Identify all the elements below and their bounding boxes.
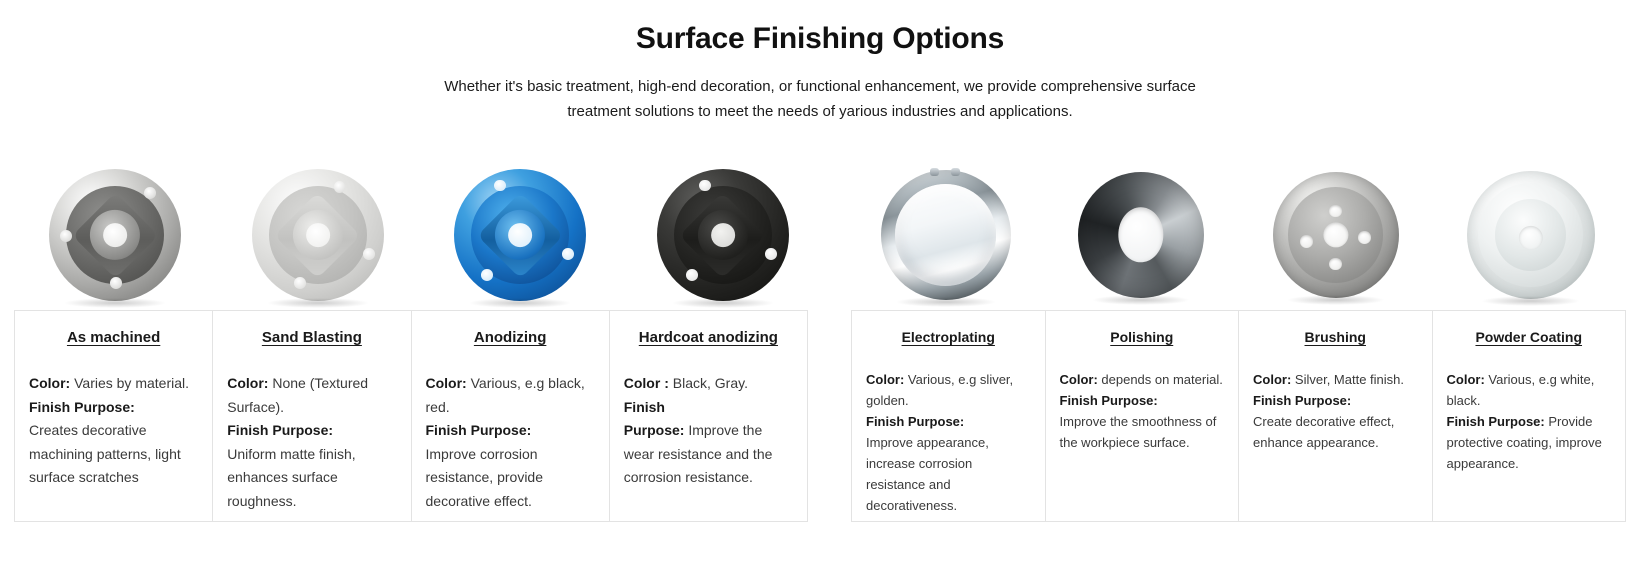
part-shadow — [266, 298, 369, 308]
flange-hole — [1329, 258, 1342, 271]
machined-housing-graphic — [49, 169, 181, 301]
part-shadow — [671, 298, 774, 308]
card-title: Hardcoat anodizing — [624, 329, 793, 346]
card-title: Powder Coating — [1447, 329, 1612, 345]
part-shadow — [1286, 295, 1384, 305]
finish-purpose-label: Finish Purpose: — [866, 414, 964, 429]
color-label: Color: — [1060, 372, 1098, 387]
color-value: Black, Gray. — [673, 375, 748, 391]
part-lug — [294, 277, 306, 289]
part-shadow — [1481, 296, 1581, 306]
finish-purpose-value: Create decorative effect, enhance appear… — [1253, 414, 1394, 450]
ring-tab — [930, 168, 939, 176]
part-shadow — [1091, 295, 1189, 305]
anodized-part-image — [419, 162, 622, 308]
ring-inner-face — [895, 184, 996, 285]
finish-purpose-value: Improve corrosion resistance, provide de… — [426, 446, 544, 509]
part-bore — [508, 223, 532, 247]
part-lug — [334, 181, 346, 193]
ring-tab — [951, 168, 960, 176]
finishing-table-right: Electroplating Color: Various, e.g slive… — [851, 310, 1626, 522]
card-title: Sand Blasting — [227, 329, 396, 346]
part-lug — [110, 277, 122, 289]
part-bore — [103, 223, 127, 247]
card-title: Brushing — [1253, 329, 1418, 345]
part-lug — [481, 269, 493, 281]
finish-card-polishing[interactable]: Polishing Color: depends on material. Fi… — [1046, 311, 1240, 521]
finish-purpose-label: Finish Purpose: — [1060, 393, 1158, 408]
as-machined-part-image — [14, 162, 217, 308]
part-lug — [765, 248, 777, 260]
color-label: Color: — [29, 375, 70, 391]
sand-blasted-part-image — [217, 162, 420, 308]
flange-hole — [1358, 231, 1371, 244]
finish-purpose-value: Improve appearance, increase corrosion r… — [866, 435, 989, 513]
card-body: Color: None (Textured Surface). Finish P… — [227, 372, 396, 513]
color-value: Varies by material. — [74, 375, 189, 391]
finish-purpose-value: Improve the smoothness of the workpiece … — [1060, 414, 1217, 450]
powder-coated-cone-graphic — [1467, 171, 1595, 299]
card-title: Polishing — [1060, 329, 1225, 345]
part-lug — [60, 230, 72, 242]
finish-purpose-label: Finish Purpose: — [426, 422, 532, 438]
finish-label: Finish — [624, 399, 665, 415]
part-shadow — [64, 298, 167, 308]
color-label: Color: — [426, 375, 467, 391]
page-title: Surface Finishing Options — [0, 0, 1640, 55]
part-shadow — [895, 297, 996, 307]
finishing-options-tables: As machined Color: Varies by material. F… — [0, 310, 1640, 522]
brushed-part-image — [1238, 162, 1433, 308]
part-lug — [686, 269, 698, 281]
color-label: Color : — [624, 375, 669, 391]
finish-card-as-machined[interactable]: As machined Color: Varies by material. F… — [15, 311, 213, 521]
finish-purpose-label: Finish Purpose: — [1253, 393, 1351, 408]
card-body: Color: Various, e.g sliver, golden. Fini… — [866, 369, 1031, 516]
color-label: Color: — [227, 375, 268, 391]
finish-purpose-value: Uniform matte finish, enhances surface r… — [227, 446, 355, 509]
image-group-left — [14, 162, 824, 308]
page-subtitle: Whether it's basic treatment, high-end d… — [420, 75, 1220, 125]
powder-coated-part-image — [1433, 162, 1628, 308]
card-body: Color: Varies by material. Finish Purpos… — [29, 372, 198, 490]
polished-part-image — [1043, 162, 1238, 308]
finish-card-powder-coating[interactable]: Powder Coating Color: Various, e.g white… — [1433, 311, 1626, 521]
polished-donut-graphic — [1078, 172, 1204, 298]
card-body: Color: Various, e.g black, red. Finish P… — [426, 372, 595, 513]
finish-purpose-label: Finish Purpose: — [227, 422, 333, 438]
color-value: Silver, Matte finish. — [1295, 372, 1404, 387]
part-lug — [494, 180, 506, 192]
finish-card-brushing[interactable]: Brushing Color: Silver, Matte finish. Fi… — [1239, 311, 1433, 521]
finish-purpose-value: Creates decorative machining patterns, l… — [29, 422, 181, 485]
image-group-right — [848, 162, 1628, 308]
finish-card-electroplating[interactable]: Electroplating Color: Various, e.g slive… — [852, 311, 1046, 521]
donut-hole — [1118, 207, 1163, 262]
anodized-housing-graphic — [454, 169, 586, 301]
color-label: Color: — [1447, 372, 1485, 387]
card-body: Color : Black, Gray. Finish Purpose: Imp… — [624, 372, 793, 490]
finish-card-hardcoat-anodizing[interactable]: Hardcoat anodizing Color : Black, Gray. … — [610, 311, 807, 521]
part-lug — [363, 248, 375, 260]
chrome-ring-graphic — [881, 170, 1011, 300]
brushed-flange-graphic — [1273, 172, 1399, 298]
hardcoat-anodized-part-image — [622, 162, 825, 308]
card-title: Anodizing — [426, 329, 595, 346]
color-value: depends on material. — [1101, 372, 1222, 387]
finish-purpose-label: Finish Purpose: — [29, 399, 135, 415]
color-label: Color: — [1253, 372, 1291, 387]
finish-purpose-label: Finish Purpose: — [1447, 414, 1545, 429]
part-lug — [699, 180, 711, 192]
part-shadow — [469, 298, 572, 308]
product-images-row — [0, 162, 1640, 308]
finish-card-sand-blasting[interactable]: Sand Blasting Color: None (Textured Surf… — [213, 311, 411, 521]
card-body: Color: Silver, Matte finish. Finish Purp… — [1253, 369, 1418, 453]
part-bore — [306, 223, 330, 247]
flange-hole — [1329, 205, 1342, 218]
card-title: Electroplating — [866, 329, 1031, 345]
electroplated-part-image — [848, 162, 1043, 308]
flange-hole — [1300, 235, 1313, 248]
card-body: Color: Various, e.g white, black. Finish… — [1447, 369, 1612, 474]
card-body: Color: depends on material. Finish Purpo… — [1060, 369, 1225, 453]
part-bore — [711, 223, 735, 247]
sandblasted-housing-graphic — [252, 169, 384, 301]
card-title: As machined — [29, 329, 198, 346]
finishing-table-left: As machined Color: Varies by material. F… — [14, 310, 808, 522]
purpose-label: Purpose: — [624, 422, 685, 438]
color-label: Color: — [866, 372, 904, 387]
finish-card-anodizing[interactable]: Anodizing Color: Various, e.g black, red… — [412, 311, 610, 521]
hardcoat-housing-graphic — [657, 169, 789, 301]
